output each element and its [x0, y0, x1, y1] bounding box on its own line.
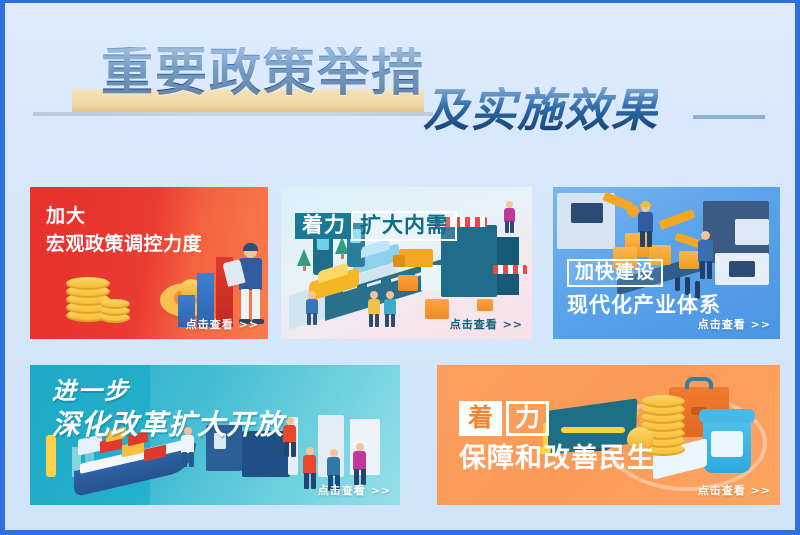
- page-title-line2: 及实施效果: [423, 87, 658, 133]
- card5-title-tag-b: 力: [506, 401, 549, 436]
- card5-titles: 着力 保障和改善民生: [459, 401, 655, 473]
- card3-title-top: 加快建设: [567, 259, 663, 287]
- tree-icon: [297, 249, 311, 266]
- card-modern-industrial-system[interactable]: 加快建设 现代化产业体系 点击查看 >>: [553, 187, 780, 339]
- card3-title-main: 现代化产业体系: [567, 294, 721, 316]
- card5-title-main: 保障和改善民生: [459, 445, 655, 473]
- card4-cta-link[interactable]: 点击查看 >>: [318, 482, 391, 498]
- briefcase-handle: [685, 377, 713, 389]
- medicine-jar-lid: [699, 409, 755, 423]
- card2-title-main: 扩大内需: [351, 211, 457, 241]
- page-title-line1: 重要政策举措: [101, 47, 425, 99]
- card1-cta-link[interactable]: 点击查看 >>: [186, 316, 259, 332]
- card1-artwork: 加大 宏观政策调控力度 点击查看 >>: [30, 187, 268, 339]
- factory-panel: [735, 219, 769, 245]
- card1-title-top: 加大: [46, 207, 202, 227]
- cnc-machine-screen: [571, 203, 603, 223]
- card2-cta-link[interactable]: 点击查看 >>: [450, 316, 523, 332]
- title-rule-right: [693, 115, 765, 119]
- shopper-figure-icon: [305, 291, 319, 325]
- card1-title-main: 宏观政策调控力度: [46, 235, 202, 255]
- card5-artwork: 着力 保障和改善民生 点击查看 >>: [437, 365, 780, 505]
- shopper-figure-icon: [383, 291, 397, 327]
- robot-arm-icon: [659, 209, 696, 230]
- control-screen: [729, 261, 755, 277]
- mini-bar-yellow: [46, 435, 56, 477]
- page-root: 重要政策举措 及实施效果: [0, 0, 800, 535]
- medicine-jar-label: [711, 431, 743, 457]
- card3-titles: 加快建设 现代化产业体系: [567, 259, 721, 316]
- parcel-box-icon: [398, 275, 418, 291]
- card-expand-domestic-demand[interactable]: 着力扩大内需 点击查看 >>: [281, 187, 532, 339]
- card-macro-policy-regulation[interactable]: 加大 宏观政策调控力度 点击查看 >>: [30, 187, 268, 339]
- card5-title-tag-a: 着: [459, 401, 502, 436]
- title-rule-left: [33, 112, 433, 116]
- card4-artwork: 进一步 深化改革扩大开放 点击查看 >>: [30, 365, 400, 505]
- shopper-figure-icon: [367, 291, 381, 327]
- shop-awning-icon: [493, 265, 527, 274]
- shopper-figure-icon: [503, 201, 516, 233]
- parcel-box-icon: [425, 299, 449, 319]
- visitor-figure-icon: [302, 447, 318, 489]
- card2-title-tag: 着力: [295, 213, 353, 239]
- card4-title-main: 深化改革扩大开放: [52, 411, 284, 439]
- card2-artwork: 着力扩大内需 点击查看 >>: [281, 187, 532, 339]
- parcel-box-icon: [477, 299, 493, 311]
- tree-trunk: [341, 253, 344, 259]
- visitor-figure-icon: [352, 443, 368, 485]
- card-deepen-reform-open-up[interactable]: 进一步 深化改革扩大开放 点击查看 >>: [30, 365, 400, 505]
- card4-title-top: 进一步: [52, 379, 284, 403]
- coin-stack-short-icon: [100, 297, 136, 327]
- card3-artwork: 加快建设 现代化产业体系 点击查看 >>: [553, 187, 780, 339]
- card5-cta-link[interactable]: 点击查看 >>: [698, 482, 771, 498]
- card5-title-tags: 着力: [459, 401, 655, 436]
- worker-figure-icon: [637, 203, 655, 247]
- page-header: 重要政策举措 及实施效果: [5, 3, 795, 178]
- card3-cta-link[interactable]: 点击查看 >>: [698, 316, 771, 332]
- tree-trunk: [303, 265, 306, 271]
- visitor-figure-icon: [282, 417, 298, 457]
- card-safeguard-improve-livelihood[interactable]: 着力 保障和改善民生 点击查看 >>: [437, 365, 780, 505]
- card4-titles: 进一步 深化改革扩大开放: [52, 379, 284, 439]
- card1-titles: 加大 宏观政策调控力度: [46, 207, 202, 255]
- card2-titles: 着力扩大内需: [295, 211, 457, 241]
- delivery-van-cabin: [393, 255, 405, 267]
